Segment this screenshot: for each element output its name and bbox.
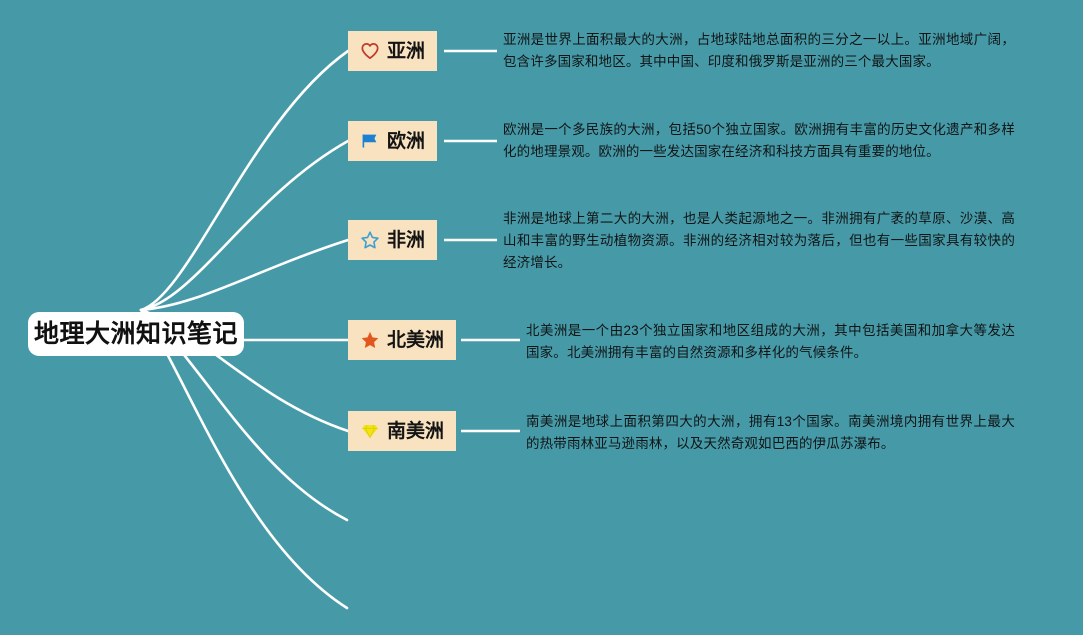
root-node[interactable]: 地理大洲知识笔记 (28, 312, 244, 356)
topic-node-south-america[interactable]: 南美洲 (348, 411, 456, 451)
topic-node-africa[interactable]: 非洲 (348, 220, 437, 260)
description-europe: 欧洲是一个多民族的大洲，包括50个独立国家。欧洲拥有丰富的历史文化遗产和多样化的… (503, 119, 1015, 163)
edge-to-africa (141, 240, 348, 310)
topic-node-north-america[interactable]: 北美洲 (348, 320, 456, 360)
root-node-label: 地理大洲知识笔记 (34, 322, 238, 347)
star-filled-icon (359, 330, 380, 351)
topic-label-south-america: 南美洲 (387, 422, 444, 441)
mindmap-canvas: 地理大洲知识笔记 亚洲 亚洲是世界上面积最大的大洲，占地球陆地总面积的三分之一以… (0, 0, 1083, 635)
topic-node-europe[interactable]: 欧洲 (348, 121, 437, 161)
flag-icon (359, 131, 380, 152)
description-asia: 亚洲是世界上面积最大的大洲，占地球陆地总面积的三分之一以上。亚洲地域广阔，包含许… (503, 29, 1015, 73)
heart-outline-icon (359, 41, 380, 62)
description-south-america: 南美洲是地球上面积第四大的大洲，拥有13个国家。南美洲境内拥有世界上最大的热带雨… (526, 411, 1015, 455)
edge-to-asia (141, 51, 348, 310)
topic-label-asia: 亚洲 (387, 42, 425, 61)
description-africa: 非洲是地球上第二大的大洲，也是人类起源地之一。非洲拥有广袤的草原、沙漠、高山和丰… (503, 208, 1015, 274)
star-outline-icon (359, 230, 380, 251)
topic-label-africa: 非洲 (387, 231, 425, 250)
gem-icon (359, 421, 380, 442)
topic-node-asia[interactable]: 亚洲 (348, 31, 437, 71)
topic-label-north-america: 北美洲 (387, 331, 444, 350)
edge-to-europe (141, 141, 348, 310)
description-north-america: 北美洲是一个由23个独立国家和地区组成的大洲，其中包括美国和加拿大等发达国家。北… (526, 320, 1015, 364)
topic-label-europe: 欧洲 (387, 132, 425, 151)
